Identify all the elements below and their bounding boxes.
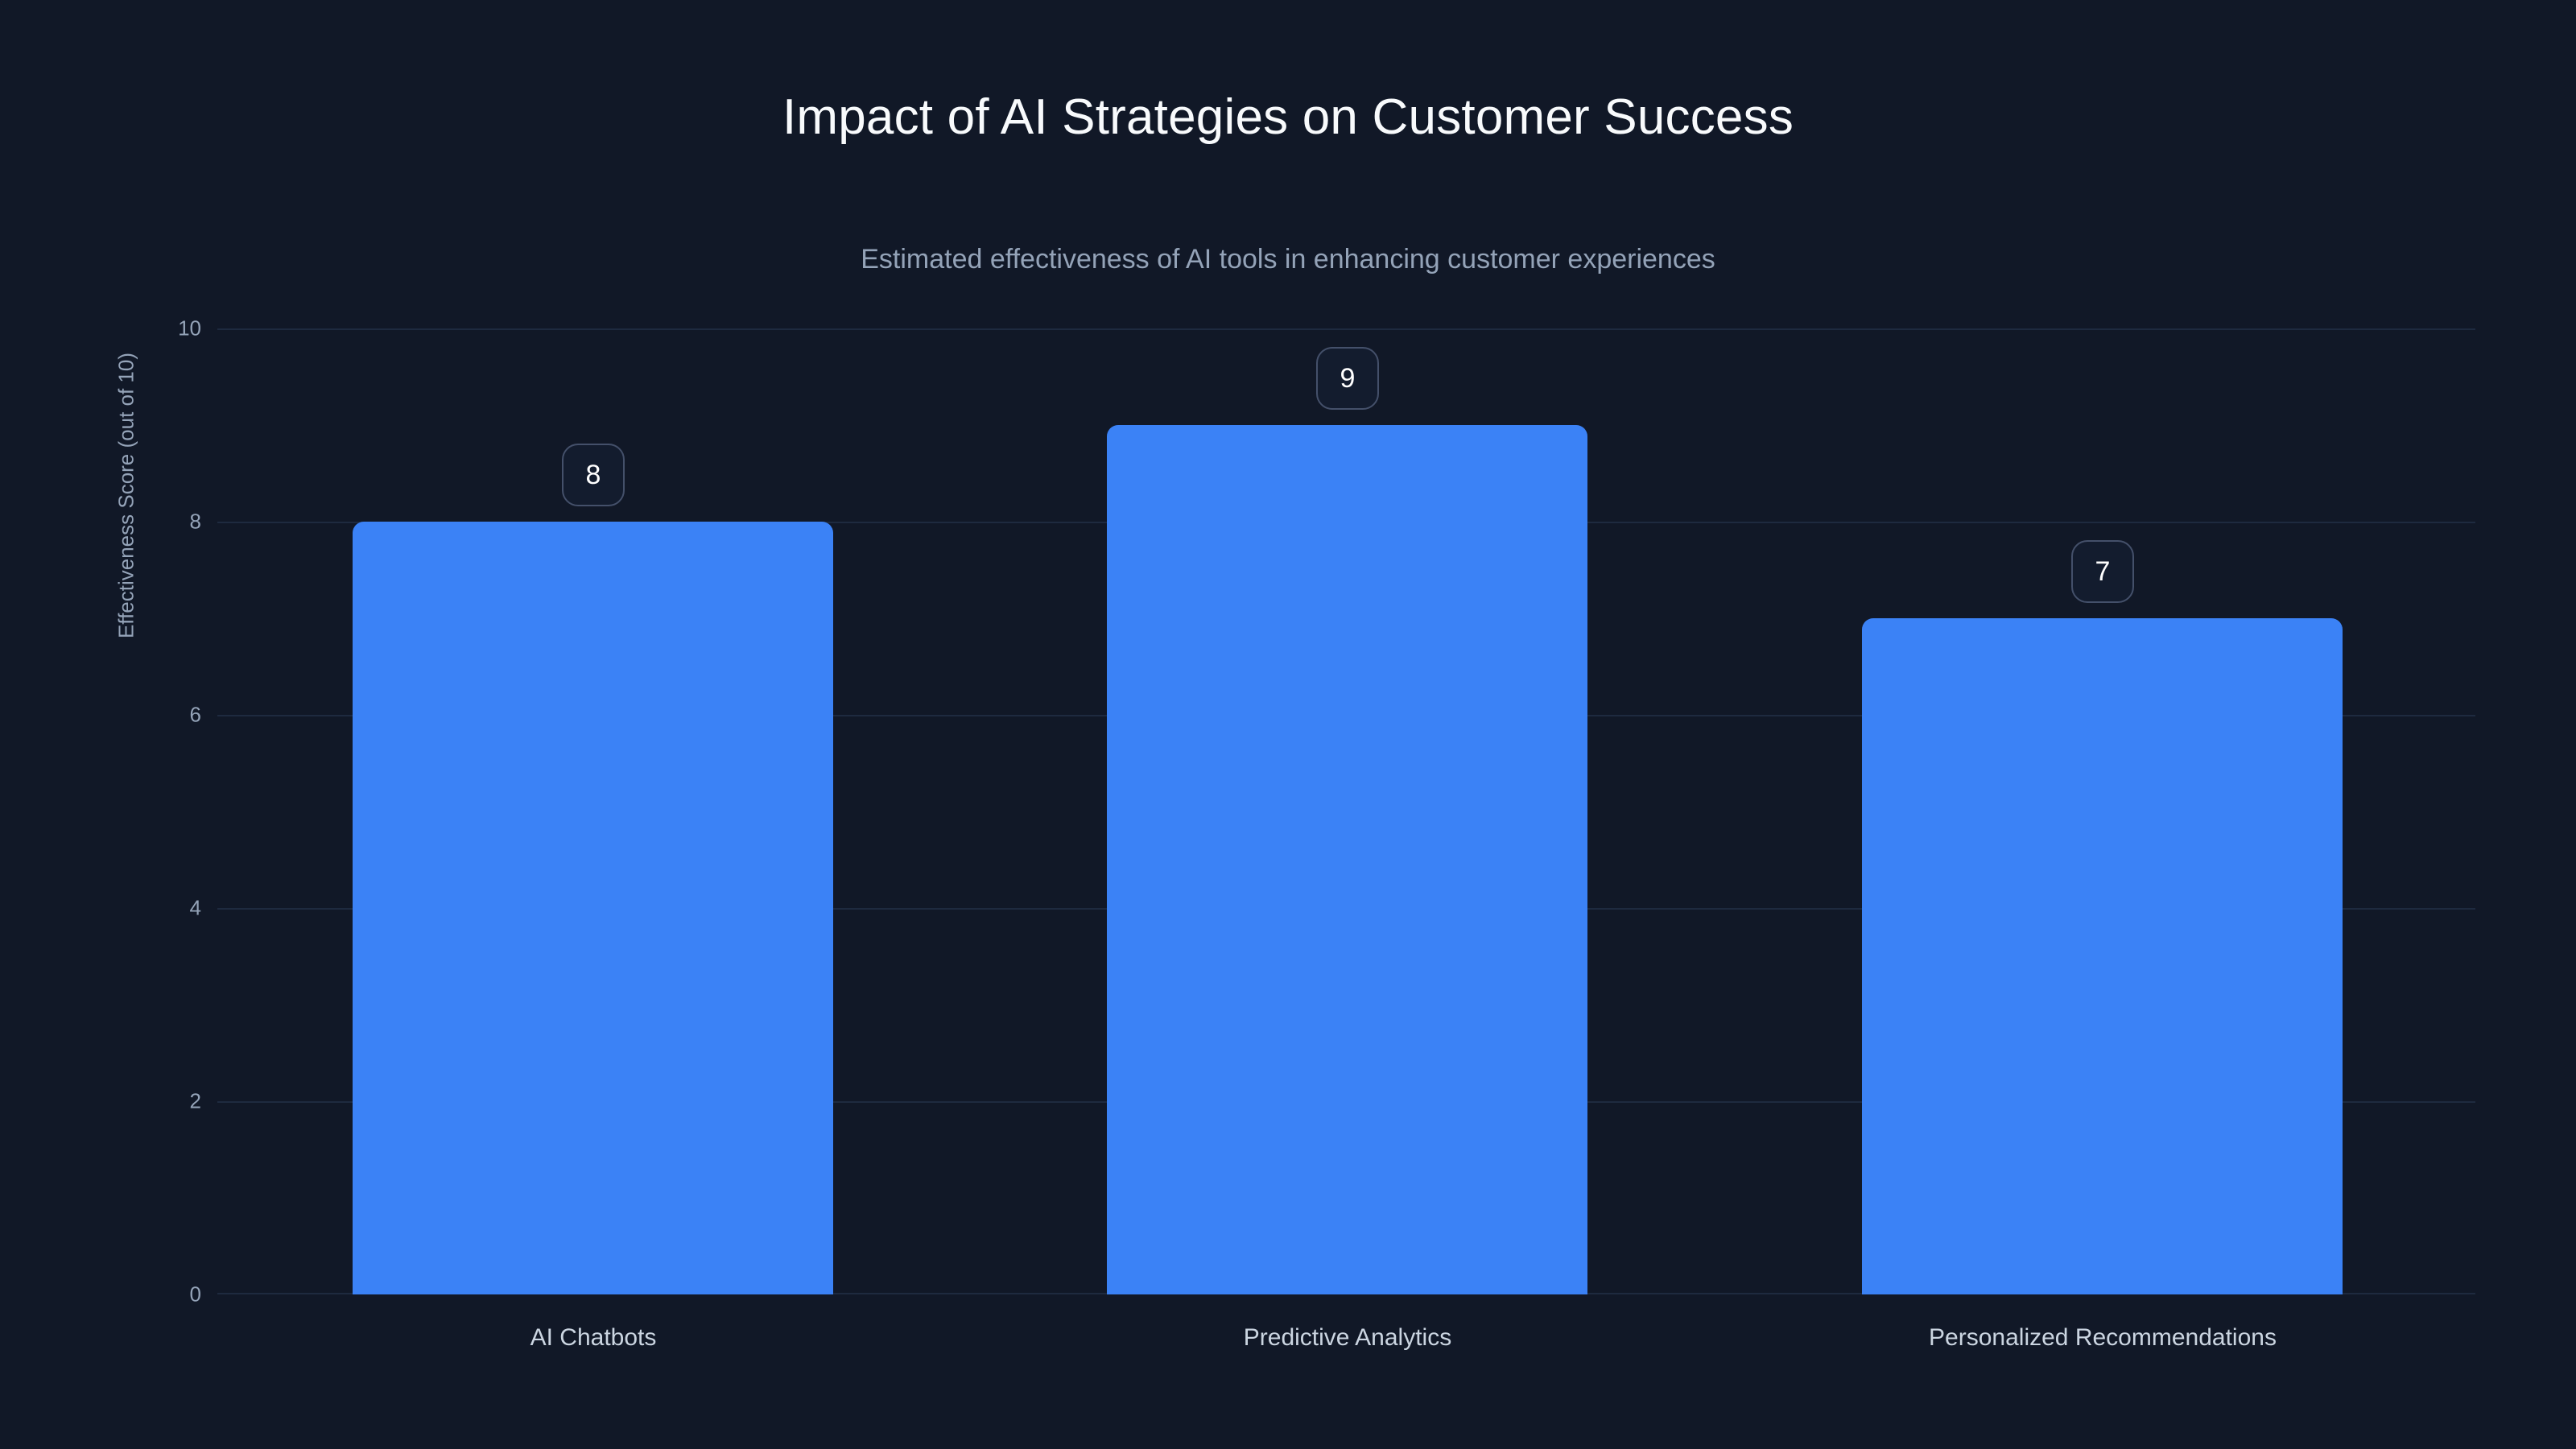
y-axis-tick-2: 2 [105,1089,201,1114]
y-axis-tick-8: 8 [105,510,201,535]
y-axis-title: Effectiveness Score (out of 10) [114,287,139,705]
x-axis-label-ai-chatbots: AI Chatbots [530,1324,657,1352]
value-badge-predictive-analytics: 9 [1316,347,1379,410]
plot-area [217,328,2475,1294]
y-axis-tick-0: 0 [105,1282,201,1307]
value-badge-personalized-recommendations: 7 [2071,540,2134,603]
y-axis-tick-4: 4 [105,896,201,921]
chart-container: Impact of AI Strategies on Customer Succ… [0,0,2576,1449]
value-badge-ai-chatbots: 8 [562,444,625,506]
y-axis-tick-10: 10 [105,316,201,341]
gridline-10 [217,328,2475,330]
bar-ai-chatbots[interactable] [353,522,833,1294]
bar-predictive-analytics[interactable] [1107,425,1587,1294]
x-axis-label-predictive-analytics: Predictive Analytics [1244,1324,1451,1352]
bar-personalized-recommendations[interactable] [1862,618,2343,1294]
y-axis-tick-6: 6 [105,703,201,728]
chart-title: Impact of AI Strategies on Customer Succ… [0,89,2576,146]
chart-subtitle: Estimated effectiveness of AI tools in e… [0,244,2576,275]
x-axis-label-personalized-recommendations: Personalized Recommendations [1929,1324,2277,1352]
